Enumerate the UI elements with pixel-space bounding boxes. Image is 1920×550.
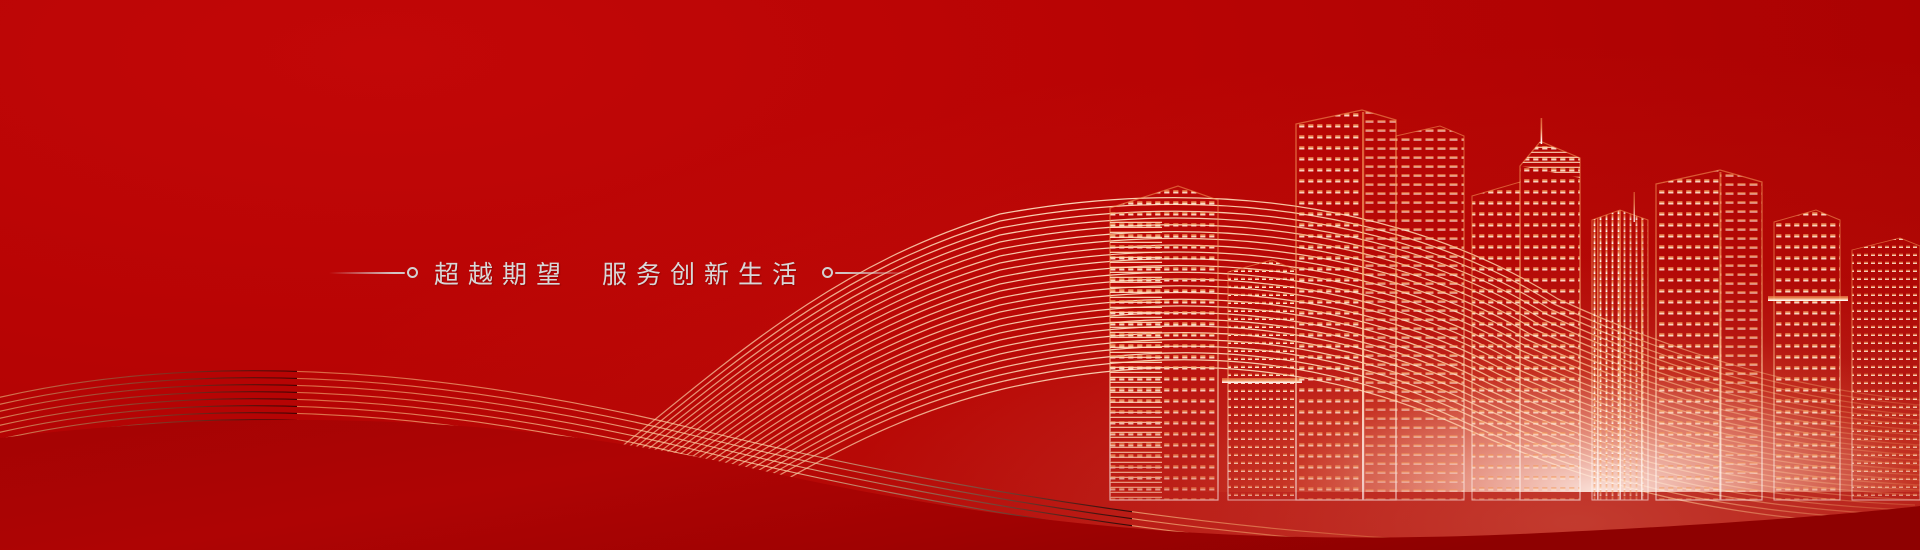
horizontal-rule-left-icon (329, 272, 405, 274)
circle-marker-right-icon (822, 267, 833, 278)
page-title: 先锋力量 榜样在身边 (0, 140, 1240, 233)
left-decoration (329, 267, 420, 278)
subtitle-row: 超越期望 服务创新生活 (0, 255, 1240, 291)
right-decoration (820, 267, 911, 278)
promotional-banner: 先锋力量 榜样在身边 超越期望 服务创新生活 (0, 0, 1920, 550)
circle-marker-left-icon (407, 267, 418, 278)
banner-text-block: 先锋力量 榜样在身边 超越期望 服务创新生活 (0, 140, 1240, 291)
city-glow (1080, 282, 1920, 492)
horizontal-rule-right-icon (835, 272, 911, 274)
foreground-sweep (0, 320, 1920, 550)
page-subtitle: 超越期望 服务创新生活 (434, 255, 806, 291)
